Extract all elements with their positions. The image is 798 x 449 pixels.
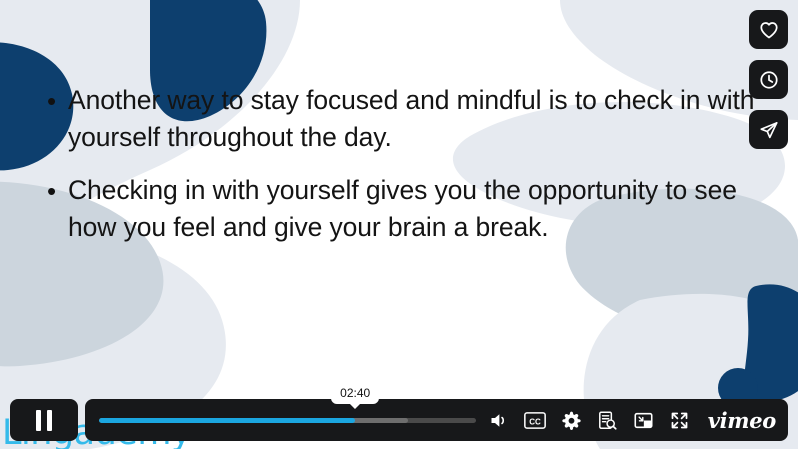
bullet-item: • Checking in with yourself gives you th… [44,172,760,246]
play-pause-button[interactable] [10,399,78,441]
heart-icon [758,19,780,41]
bullet-marker: • [44,172,68,210]
captions-button[interactable]: CC [524,408,546,432]
clock-icon [758,69,780,91]
share-paper-plane-icon [758,119,780,141]
bullet-text: Another way to stay focused and mindful … [68,82,760,156]
slide-text-body: • Another way to stay focused and mindfu… [44,82,760,262]
slide-canvas[interactable]: • Another way to stay focused and mindfu… [0,0,798,449]
time-tooltip: 02:40 [331,383,379,404]
picture-in-picture-button[interactable] [633,408,654,432]
volume-button[interactable] [488,408,509,432]
bullet-marker: • [44,82,68,120]
video-player: • Another way to stay focused and mindfu… [0,0,798,449]
gear-icon [561,410,582,431]
side-action-buttons [749,10,788,149]
fullscreen-icon [669,410,690,431]
progress-played [99,418,355,423]
progress-track [99,418,476,423]
like-button[interactable] [749,10,788,49]
bullet-text: Checking in with yourself gives you the … [68,172,760,246]
transcript-button[interactable] [597,408,618,432]
fullscreen-button[interactable] [669,408,690,432]
vimeo-logo[interactable]: vimeo [708,410,776,431]
progress-bar[interactable]: 02:40 [99,410,476,430]
picture-in-picture-icon [633,410,654,431]
pause-icon [36,410,52,431]
bullet-item: • Another way to stay focused and mindfu… [44,82,760,156]
control-icon-group: CC [488,408,776,432]
settings-button[interactable] [561,408,582,432]
controls-main-panel: 02:40 CC [85,399,788,441]
player-controls: 02:40 CC [10,399,788,441]
cc-icon: CC [524,412,546,429]
transcript-search-icon [597,410,618,431]
share-button[interactable] [749,110,788,149]
watch-later-button[interactable] [749,60,788,99]
volume-icon [488,410,509,431]
svg-text:CC: CC [529,417,541,426]
